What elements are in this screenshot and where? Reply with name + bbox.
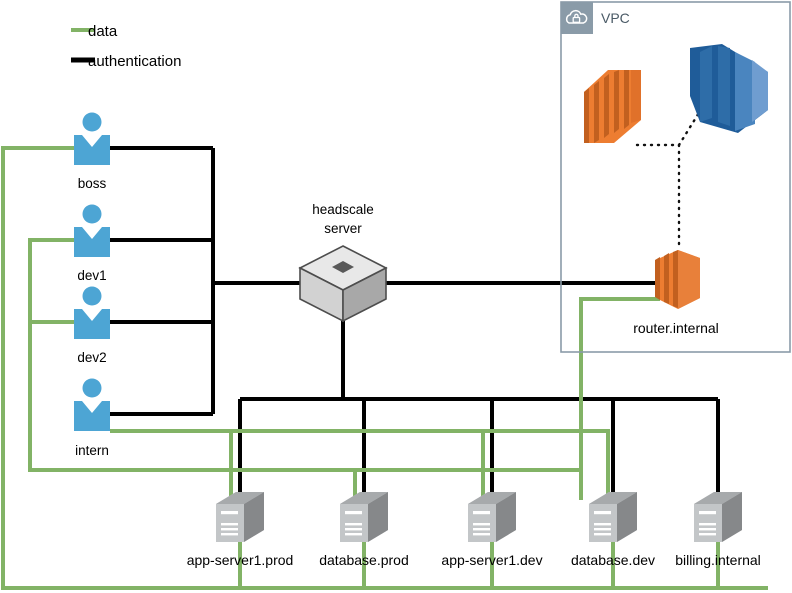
network-diagram: data authentication boss dev1 dev2: [0, 0, 792, 593]
server-label-database-prod: database.prod: [319, 552, 409, 568]
user-label-intern: intern: [75, 443, 109, 458]
server-database-dev[interactable]: database.dev: [571, 492, 655, 568]
user-label-boss: boss: [78, 176, 107, 191]
server-label-app-server1-prod: app-server1.prod: [187, 552, 294, 568]
server-icon: [340, 492, 388, 542]
headscale-label-line1: headscale: [312, 202, 374, 217]
server-label-billing-internal: billing.internal: [675, 552, 761, 568]
aws-compute-orange-icon[interactable]: [584, 70, 641, 143]
server-icon: [589, 492, 637, 542]
headscale-label-line2: server: [324, 221, 362, 236]
server-label-database-dev: database.dev: [571, 552, 655, 568]
legend: data authentication: [71, 23, 181, 70]
data-link-intern: [110, 431, 608, 500]
user-label-dev2: dev2: [77, 350, 106, 365]
person-icon: [74, 113, 110, 166]
aws-router-orange-icon: [655, 250, 700, 309]
user-intern[interactable]: intern: [74, 379, 110, 459]
server-icon: [216, 492, 264, 542]
server-app-server1-dev[interactable]: app-server1.dev: [441, 492, 542, 568]
server-billing-internal[interactable]: billing.internal: [675, 492, 761, 568]
user-boss[interactable]: boss: [74, 113, 110, 192]
vpc-node-router[interactable]: router.internal: [633, 250, 719, 336]
vpc-title: VPC: [601, 10, 630, 26]
user-label-dev1: dev1: [77, 268, 106, 283]
auth-links: [110, 148, 718, 505]
server-icon: [694, 492, 742, 542]
server-label-app-server1-dev: app-server1.dev: [441, 552, 542, 568]
diagram-canvas: data authentication boss dev1 dev2: [0, 0, 792, 593]
legend-label-data: data: [88, 23, 118, 40]
user-dev1[interactable]: dev1: [74, 205, 110, 284]
server-app-server1-prod[interactable]: app-server1.prod: [187, 492, 294, 568]
user-dev2[interactable]: dev2: [74, 287, 110, 366]
vpc-router-label: router.internal: [633, 320, 719, 336]
person-icon: [74, 205, 110, 258]
server-icon: [468, 492, 516, 542]
aws-database-blue-icon[interactable]: [690, 44, 768, 133]
headscale-server[interactable]: headscale server: [300, 202, 386, 321]
server-database-prod[interactable]: database.prod: [319, 492, 409, 568]
person-icon: [74, 379, 110, 432]
legend-label-authentication: authentication: [88, 53, 181, 70]
cube-icon: [300, 246, 386, 321]
person-icon: [74, 287, 110, 340]
